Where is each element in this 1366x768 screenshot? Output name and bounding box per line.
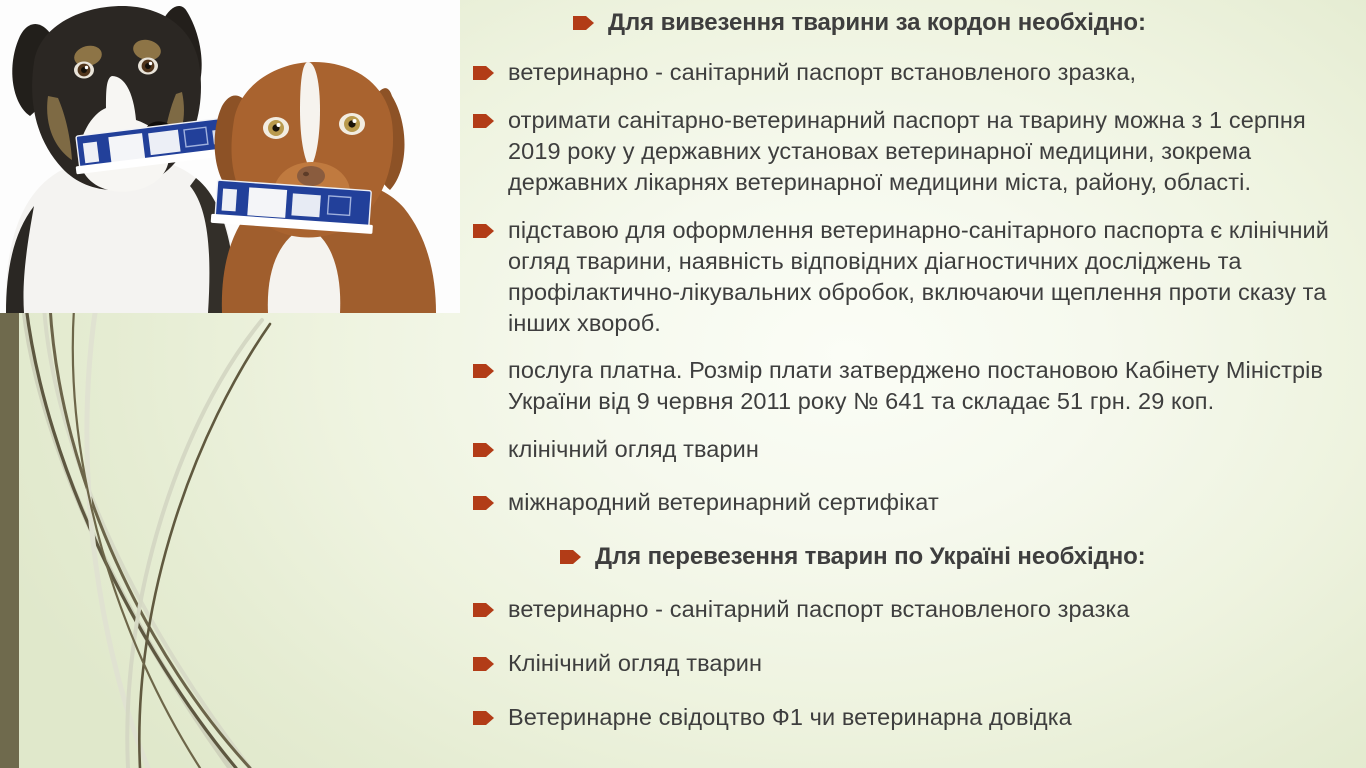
list-item-text: міжнародний ветеринарний сертифікат [508, 487, 1366, 518]
list-item-text: послуга платна. Розмір плати затверджено… [508, 355, 1352, 417]
slide-body-content: Для вивезення тварини за кордон необхідн… [460, 0, 1366, 768]
list-item: підставою для оформлення ветеринарно-сан… [460, 215, 1366, 339]
bullet-arrow-icon [473, 224, 495, 238]
list-item: міжнародний ветеринарний сертифікат [460, 487, 1366, 518]
list-item-text: Клінічний огляд тварин [508, 648, 1366, 679]
list-item-text: Ветеринарне свідоцтво Ф1 чи ветеринарна … [508, 702, 1366, 733]
bullet-arrow-icon [473, 496, 495, 510]
bullet-arrow-icon [473, 114, 495, 128]
photo-illustration [0, 0, 460, 313]
list-item-text: отримати санітарно-ветеринарний паспорт … [508, 105, 1348, 198]
list-item: клінічний огляд тварин [460, 434, 1366, 465]
list-item: Клінічний огляд тварин [460, 648, 1366, 679]
list-item-text: клінічний огляд тварин [508, 434, 1366, 465]
list-item-text: ветеринарно - санітарний паспорт встанов… [508, 594, 1366, 625]
list-item-text: підставою для оформлення ветеринарно-сан… [508, 215, 1348, 339]
list-item: послуга платна. Розмір плати затверджено… [460, 355, 1366, 417]
bullet-arrow-icon [473, 364, 495, 378]
bullet-arrow-icon [473, 603, 495, 617]
list-item: Для вивезення тварини за кордон необхідн… [460, 8, 1366, 38]
left-accent-bar [0, 313, 19, 768]
list-item: ветеринарно - санітарний паспорт встанов… [460, 57, 1366, 88]
bullet-arrow-icon [473, 711, 495, 725]
list-item: Ветеринарне свідоцтво Ф1 чи ветеринарна … [460, 702, 1366, 733]
bullet-arrow-icon [473, 657, 495, 671]
list-item: ветеринарно - санітарний паспорт встанов… [460, 594, 1366, 625]
list-item: отримати санітарно-ветеринарний паспорт … [460, 105, 1366, 198]
decorative-grass-lines [0, 300, 470, 768]
list-item: Для перевезення тварин по Україні необхі… [460, 542, 1366, 572]
list-item-text: Для вивезення тварини за кордон необхідн… [608, 8, 1366, 38]
bullet-arrow-icon [473, 66, 495, 80]
bullet-arrow-icon [573, 16, 595, 30]
bullet-arrow-icon [560, 550, 582, 564]
slide-canvas: Для вивезення тварини за кордон необхідн… [0, 0, 1366, 768]
list-item-text: Для перевезення тварин по Україні необхі… [595, 542, 1366, 572]
dogs-with-passports-photo [0, 0, 460, 313]
list-item-text: ветеринарно - санітарний паспорт встанов… [508, 57, 1340, 88]
bullet-arrow-icon [473, 443, 495, 457]
